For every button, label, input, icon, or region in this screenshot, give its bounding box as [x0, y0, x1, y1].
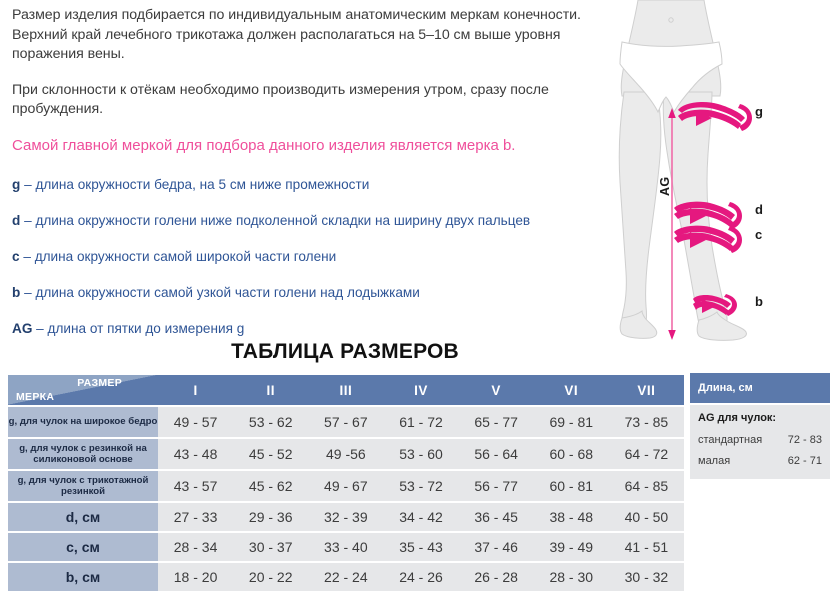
list-item: c – длина окружности самой широкой части… [12, 248, 612, 265]
list-item: g – длина окружности бедра, на 5 см ниже… [12, 176, 612, 193]
measurement-text: длина окружности голени ниже подколенной… [35, 213, 530, 228]
intro-paragraph-2: При склонности к отёкам необходимо произ… [12, 81, 612, 120]
table-cell: 40 - 50 [609, 503, 684, 531]
list-item: AG – длина от пятки до измерения g [12, 320, 612, 337]
table-cell: 32 - 39 [308, 503, 383, 531]
table-cell: 61 - 72 [383, 407, 458, 437]
table-cell: 53 - 60 [383, 439, 458, 469]
measurement-key: g [12, 177, 20, 192]
table-cell: 35 - 43 [383, 533, 458, 561]
table-cell: 20 - 22 [233, 563, 308, 591]
table-cell: 29 - 36 [233, 503, 308, 531]
table-header-row: РАЗМЕР МЕРКА I II III IV V VI VII [8, 375, 684, 405]
table-cell: 60 - 81 [534, 471, 609, 501]
table-cell: 33 - 40 [308, 533, 383, 561]
marker-label-b: b [755, 294, 763, 309]
size-table: РАЗМЕР МЕРКА I II III IV V VI VII g, для… [8, 373, 684, 593]
measurement-dash: – [24, 177, 32, 192]
length-panel-header: Длина, см [690, 373, 830, 403]
measurement-dash: – [23, 249, 31, 264]
column-header-3: III [308, 375, 383, 405]
measurement-text: длина окружности бедра, на 5 см ниже про… [35, 177, 369, 192]
table-cell: 69 - 81 [534, 407, 609, 437]
measurement-key: d [12, 213, 20, 228]
table-cell: 43 - 48 [158, 439, 233, 469]
leg-measurement-illustration: g d c b AG [600, 0, 836, 345]
marker-label-d: d [755, 202, 763, 217]
table-cell: 22 - 24 [308, 563, 383, 591]
table-cell: 65 - 77 [459, 407, 534, 437]
table-cell: 38 - 48 [534, 503, 609, 531]
row-label: g, для чулок с трикотажной резинкой [8, 471, 158, 501]
header-mark-label: МЕРКА [16, 391, 54, 403]
row-label: d, см [8, 503, 158, 531]
table-cell: 26 - 28 [459, 563, 534, 591]
table-cell: 30 - 32 [609, 563, 684, 591]
table-cell: 53 - 72 [383, 471, 458, 501]
table-cell: 30 - 37 [233, 533, 308, 561]
length-row-name: малая [698, 455, 730, 467]
measurement-key: b [12, 285, 20, 300]
length-panel-title: AG для чулок: [698, 412, 822, 424]
length-row-name: стандартная [698, 434, 762, 446]
table-row: g, для чулок с трикотажной резинкой 43 -… [8, 471, 684, 501]
column-header-5: V [459, 375, 534, 405]
table-cell: 24 - 26 [383, 563, 458, 591]
table-cell: 73 - 85 [609, 407, 684, 437]
measurement-key: c [12, 249, 20, 264]
table-cell: 49 - 67 [308, 471, 383, 501]
table-cell: 36 - 45 [459, 503, 534, 531]
table-cell: 49 - 57 [158, 407, 233, 437]
measurement-key: AG [12, 321, 32, 336]
row-label: c, см [8, 533, 158, 561]
measurement-text: длина от пятки до измерения g [48, 321, 245, 336]
table-cell: 41 - 51 [609, 533, 684, 561]
table-row: c, см 28 - 34 30 - 37 33 - 40 35 - 43 37… [8, 533, 684, 561]
table-cell: 27 - 33 [158, 503, 233, 531]
measurement-text: длина окружности самой широкой части гол… [35, 249, 337, 264]
intro-paragraph-1: Размер изделия подбирается по индивидуал… [12, 6, 612, 65]
instructions-panel: Размер изделия подбирается по индивидуал… [12, 6, 612, 356]
row-label: g, для чулок с резинкой на силиконовой о… [8, 439, 158, 469]
table-row: d, см 27 - 33 29 - 36 32 - 39 34 - 42 36… [8, 503, 684, 531]
header-corner-cell: РАЗМЕР МЕРКА [8, 375, 158, 405]
measurement-dash: – [24, 213, 32, 228]
list-item: стандартная 72 - 83 [698, 434, 822, 446]
size-table-header: РАЗМЕР МЕРКА I II III IV V VI VII [8, 375, 684, 405]
table-cell: 60 - 68 [534, 439, 609, 469]
row-label: g, для чулок на широкое бедро [8, 407, 158, 437]
table-cell: 49 -56 [308, 439, 383, 469]
table-cell: 57 - 67 [308, 407, 383, 437]
table-cell: 39 - 49 [534, 533, 609, 561]
table-cell: 43 - 57 [158, 471, 233, 501]
size-table-body: g, для чулок на широкое бедро 49 - 57 53… [8, 407, 684, 591]
table-cell: 45 - 52 [233, 439, 308, 469]
list-item: малая 62 - 71 [698, 455, 822, 467]
length-panel: Длина, см AG для чулок: стандартная 72 -… [690, 373, 830, 479]
table-row: b, см 18 - 20 20 - 22 22 - 24 24 - 26 26… [8, 563, 684, 591]
table-cell: 45 - 62 [233, 471, 308, 501]
list-item: d – длина окружности голени ниже подколе… [12, 212, 612, 229]
column-header-6: VI [534, 375, 609, 405]
column-header-1: I [158, 375, 233, 405]
table-cell: 56 - 77 [459, 471, 534, 501]
table-cell: 37 - 46 [459, 533, 534, 561]
table-cell: 56 - 64 [459, 439, 534, 469]
length-row-value: 72 - 83 [788, 434, 822, 446]
table-cell: 28 - 30 [534, 563, 609, 591]
table-cell: 53 - 62 [233, 407, 308, 437]
table-cell: 34 - 42 [383, 503, 458, 531]
measurement-text: длина окружности самой узкой части голен… [35, 285, 419, 300]
row-label: b, см [8, 563, 158, 591]
table-cell: 64 - 72 [609, 439, 684, 469]
length-row-value: 62 - 71 [788, 455, 822, 467]
table-cell: 64 - 85 [609, 471, 684, 501]
table-row: g, для чулок с резинкой на силиконовой о… [8, 439, 684, 469]
marker-label-c: c [755, 227, 762, 242]
female-body-figure-svg [600, 0, 836, 345]
key-measurement-note: Самой главной меркой для подбора данного… [12, 136, 612, 156]
column-header-4: IV [383, 375, 458, 405]
table-cell: 18 - 20 [158, 563, 233, 591]
marker-label-g: g [755, 104, 763, 119]
list-item: b – длина окружности самой узкой части г… [12, 284, 612, 301]
header-size-label: РАЗМЕР [77, 377, 122, 389]
length-panel-body: AG для чулок: стандартная 72 - 83 малая … [690, 405, 830, 479]
measurement-dash: – [36, 321, 44, 336]
table-row: g, для чулок на широкое бедро 49 - 57 53… [8, 407, 684, 437]
measurement-legend-list: g – длина окружности бедра, на 5 см ниже… [12, 176, 612, 337]
marker-label-ag: AG [658, 176, 672, 196]
page-title: ТАБЛИЦА РАЗМЕРОВ [0, 340, 690, 364]
column-header-7: VII [609, 375, 684, 405]
measurement-dash: – [24, 285, 32, 300]
table-cell: 28 - 34 [158, 533, 233, 561]
column-header-2: II [233, 375, 308, 405]
